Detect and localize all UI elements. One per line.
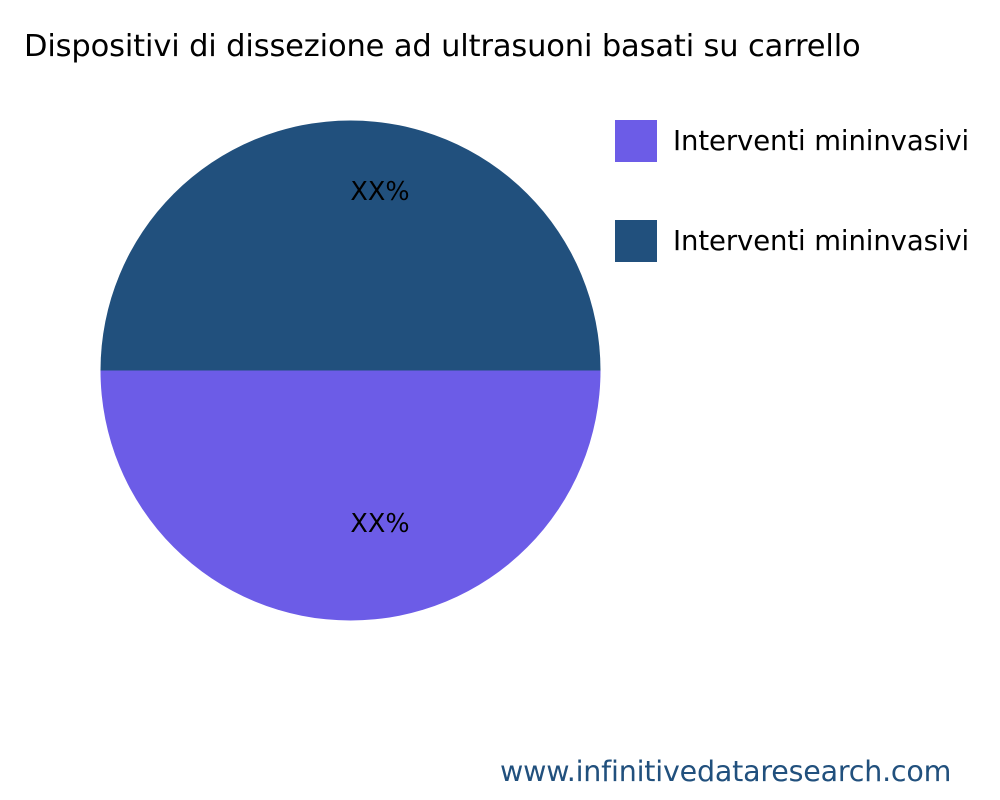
pie-slice-0-value-label: XX% [350,511,409,537]
page-title: Dispositivi di dissezione ad ultrasuoni … [24,26,992,68]
pie-slice-1[interactable] [101,121,601,371]
legend-item-0[interactable]: Interventi mininvasivi [615,120,1000,162]
square-swatch-icon [615,120,657,162]
square-swatch-icon [615,220,657,262]
legend-item-1[interactable]: Interventi mininvasivi [615,220,1000,262]
pie-slice-1-value-label: XX% [350,179,409,205]
chart-legend: Interventi mininvasivi Interventi mininv… [615,120,1000,262]
pie-chart-plot-area: XX% XX% [100,120,601,621]
pie-chart-figure: Dispositivi di dissezione ad ultrasuoni … [0,0,1000,800]
legend-item-1-label: Interventi mininvasivi [673,220,969,262]
pie-slice-0[interactable] [101,371,601,621]
source-website-url[interactable]: www.infinitivedataresearch.com [500,753,992,791]
legend-item-0-label: Interventi mininvasivi [673,120,969,162]
